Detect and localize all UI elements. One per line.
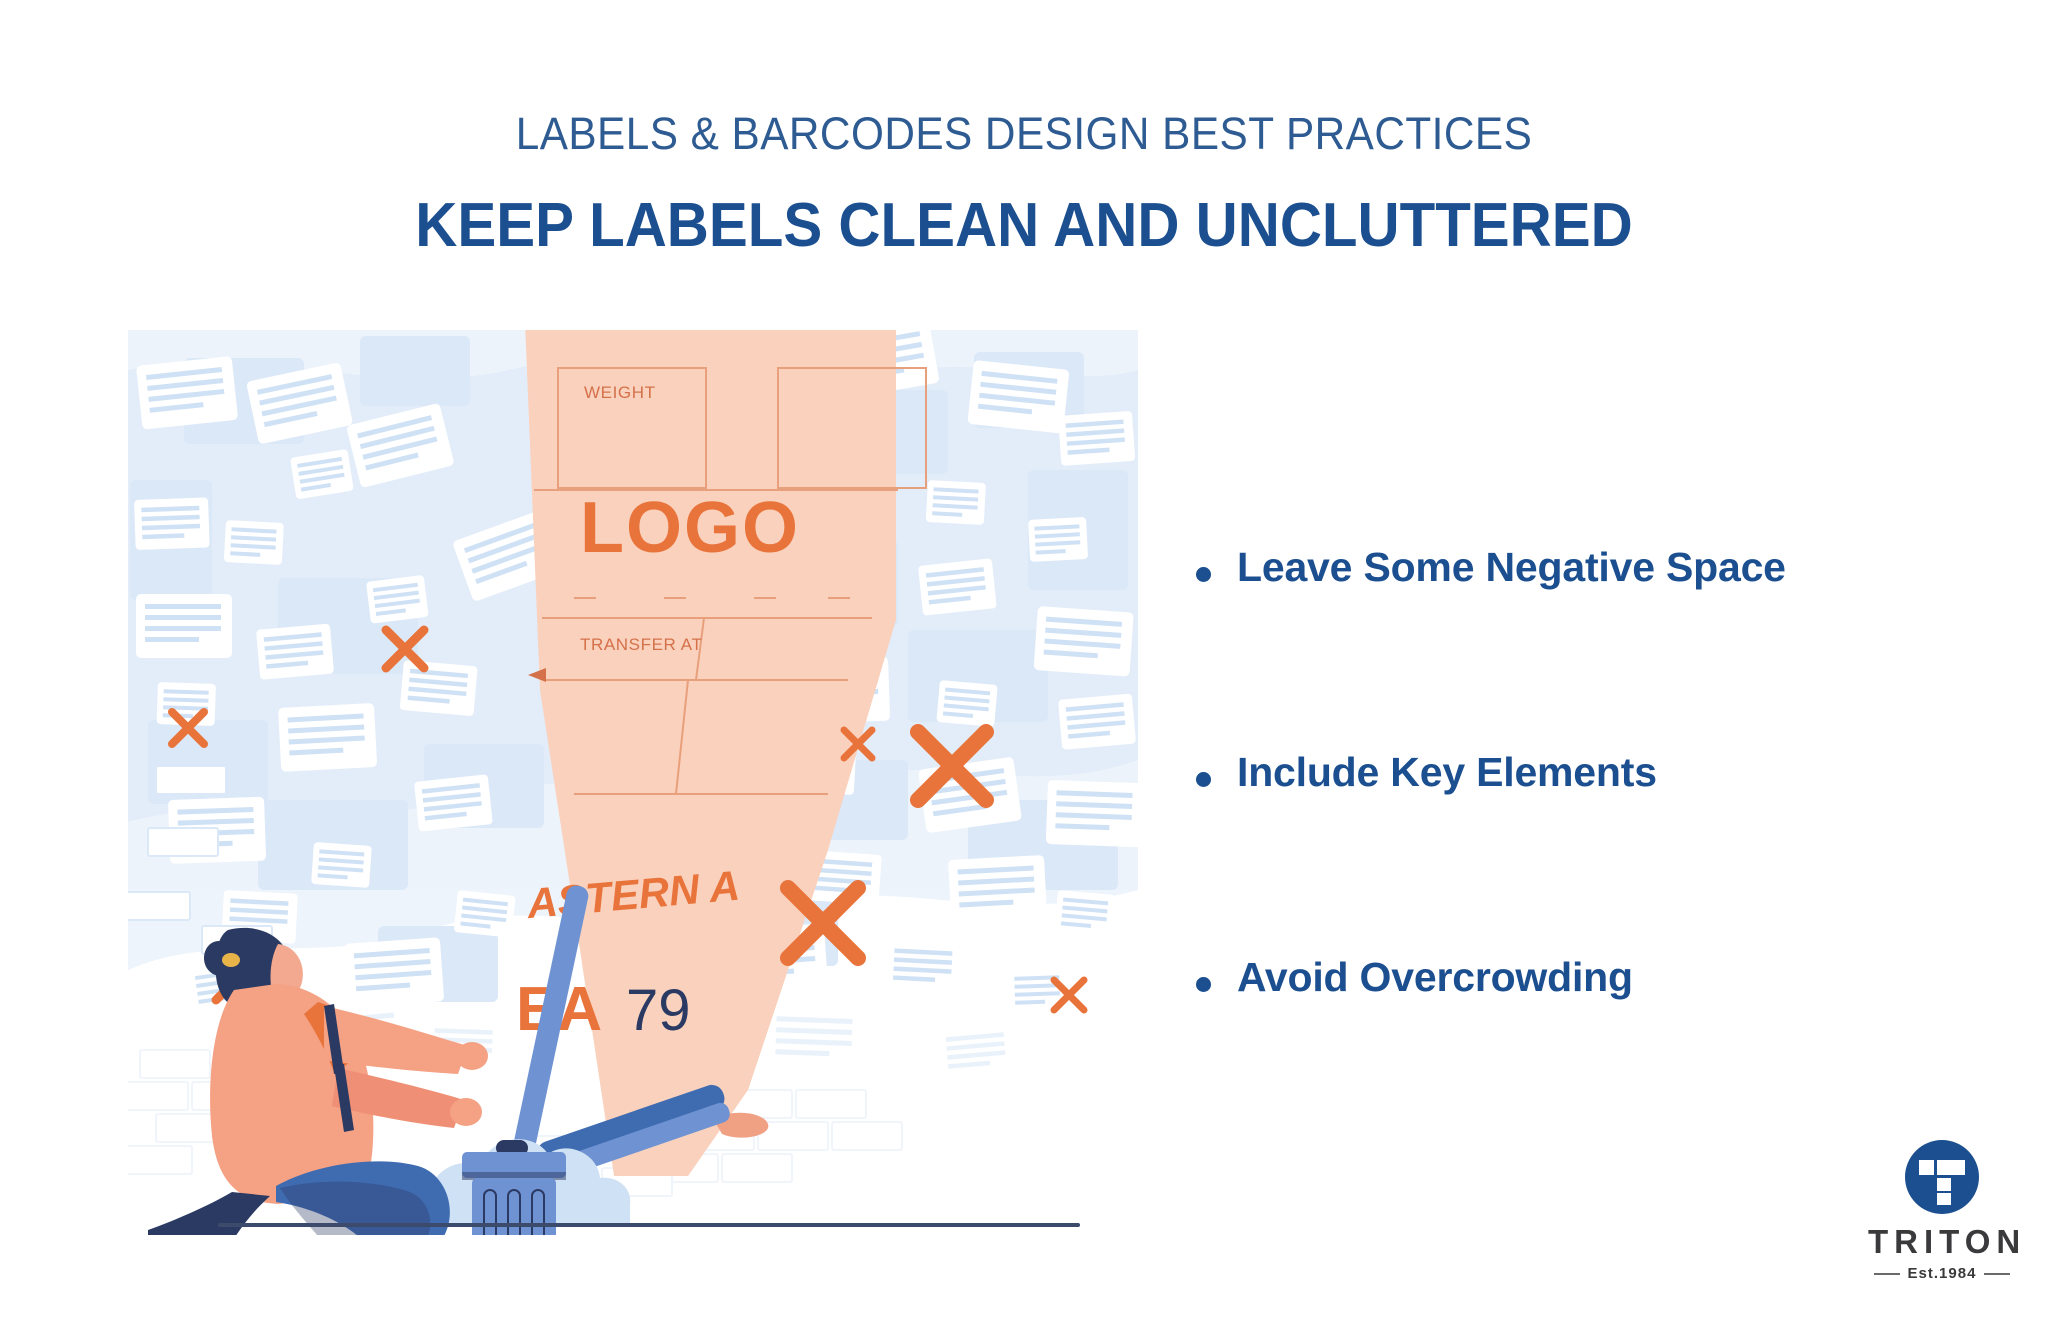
triton-logo[interactable]: TRITON Est.1984: [1862, 1140, 2022, 1282]
bullet-label: Avoid Overcrowding: [1237, 955, 1633, 1000]
svg-text:LOGO: LOGO: [580, 488, 800, 568]
bullet-label: Include Key Elements: [1237, 750, 1657, 795]
page-title: KEEP LABELS CLEAN AND UNCLUTTERED: [61, 190, 1986, 261]
triton-mark-icon: [1905, 1140, 1979, 1214]
bullet-label: Leave Some Negative Space: [1237, 545, 1786, 590]
svg-text:79: 79: [626, 978, 691, 1043]
divider-left: [1874, 1273, 1900, 1275]
eyebrow-title: LABELS & BARCODES DESIGN BEST PRACTICES: [61, 108, 1986, 160]
logo-wordmark: TRITON: [1862, 1223, 2022, 1261]
divider-right: [1984, 1273, 2010, 1275]
established-text: Est.1984: [1908, 1265, 1977, 1282]
list-item[interactable]: Include Key Elements: [1196, 750, 1996, 795]
slide-canvas: LABELS & BARCODES DESIGN BEST PRACTICES …: [0, 0, 2048, 1340]
illustration-svg: WEIGHT LOGO TRANSFER AT ASTERN A EA 79: [128, 330, 1138, 1235]
bullet-dot-icon: [1196, 977, 1211, 992]
ground-line: [218, 1223, 1080, 1227]
logo-established: Est.1984: [1862, 1265, 2022, 1282]
svg-text:TRANSFER AT: TRANSFER AT: [580, 635, 702, 654]
svg-text:WEIGHT: WEIGHT: [584, 383, 656, 402]
list-item[interactable]: Leave Some Negative Space: [1196, 545, 1996, 590]
bullet-list: Leave Some Negative Space Include Key El…: [1196, 545, 1996, 1000]
illustration-panel: WEIGHT LOGO TRANSFER AT ASTERN A EA 79: [128, 330, 1138, 1235]
bullet-dot-icon: [1196, 772, 1211, 787]
bullet-dot-icon: [1196, 567, 1211, 582]
list-item[interactable]: Avoid Overcrowding: [1196, 955, 1996, 1000]
